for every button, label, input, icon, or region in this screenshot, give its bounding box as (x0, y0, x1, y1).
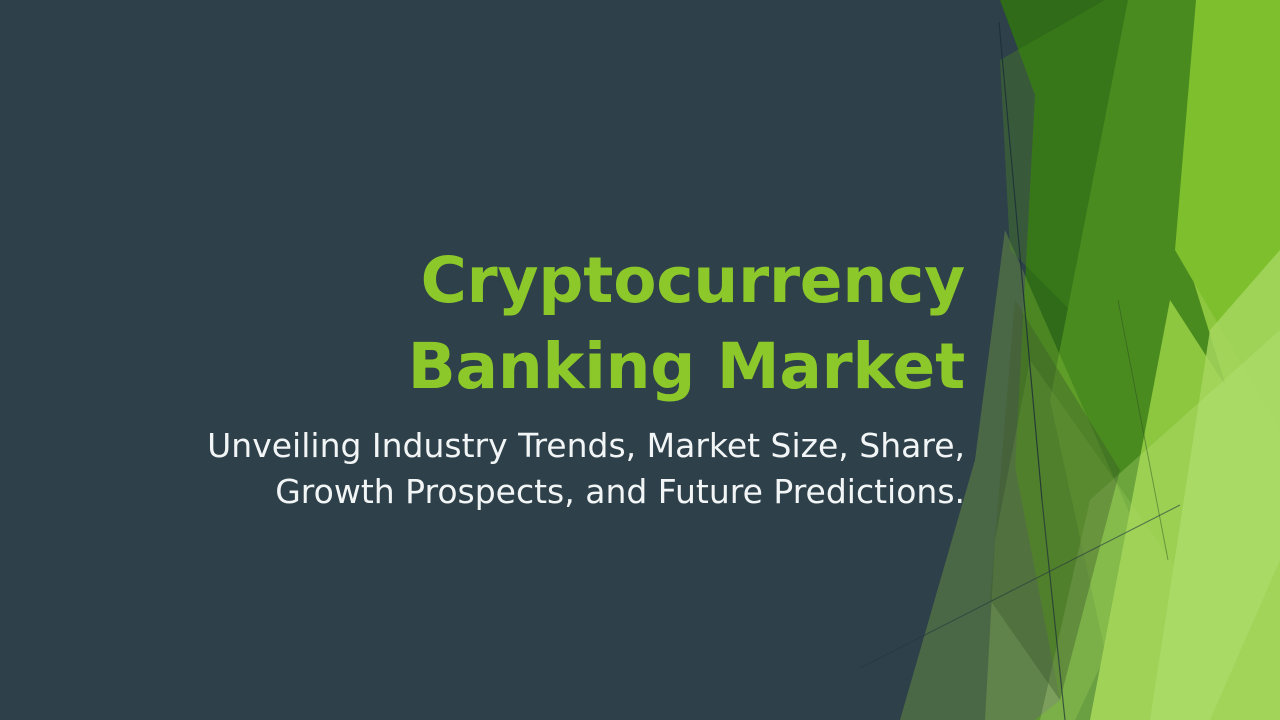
slide-text-block: Cryptocurrency Banking Market Unveiling … (140, 238, 965, 514)
title-line-2: Banking Market (408, 330, 965, 403)
presentation-slide: Cryptocurrency Banking Market Unveiling … (0, 0, 1280, 720)
slide-subtitle: Unveiling Industry Trends, Market Size, … (140, 423, 965, 514)
subtitle-line-1: Unveiling Industry Trends, Market Size, … (207, 426, 965, 465)
title-line-1: Cryptocurrency (421, 244, 965, 317)
slide-title: Cryptocurrency Banking Market (140, 238, 965, 409)
subtitle-line-2: Growth Prospects, and Future Predictions… (275, 472, 965, 511)
